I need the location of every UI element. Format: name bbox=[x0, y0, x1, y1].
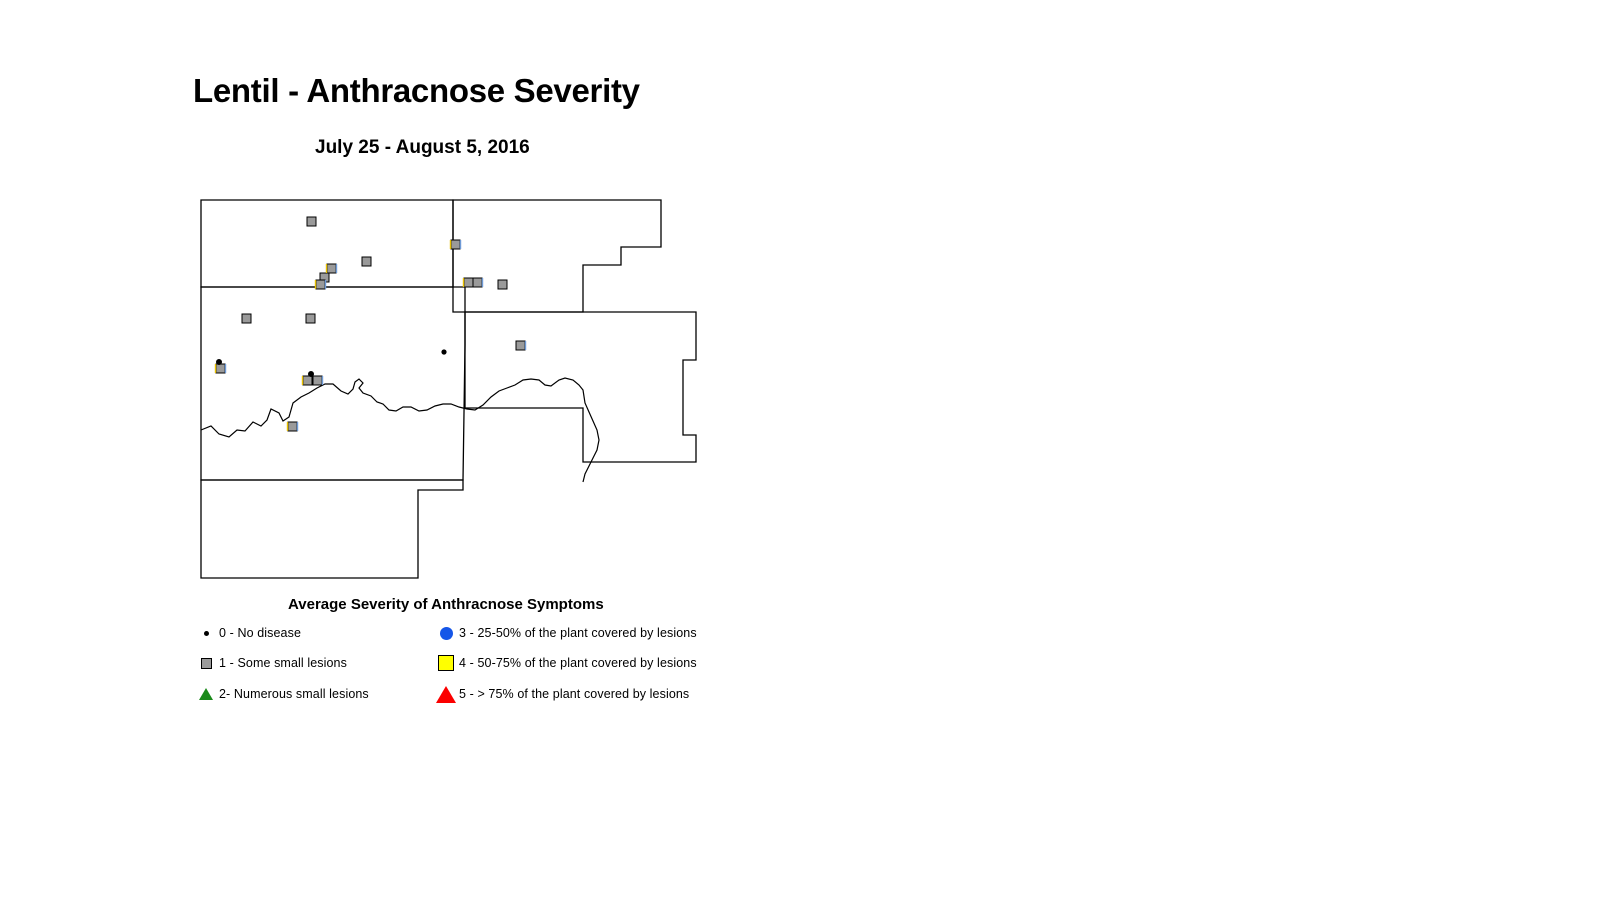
data-point-marker[interactable] bbox=[288, 422, 297, 431]
data-point-marker[interactable] bbox=[313, 376, 322, 385]
data-point-marker[interactable] bbox=[441, 349, 446, 354]
page-subtitle: July 25 - August 5, 2016 bbox=[315, 137, 530, 159]
legend-item-0[interactable]: 0 - No disease bbox=[193, 622, 301, 644]
data-point-marker[interactable] bbox=[216, 364, 225, 373]
map-boundaries bbox=[201, 200, 696, 578]
black-dot-icon bbox=[193, 631, 219, 636]
legend: 0 - No disease 1 - Some small lesions 2-… bbox=[193, 622, 753, 714]
data-point-marker[interactable] bbox=[316, 280, 325, 289]
legend-item-5[interactable]: 5 - > 75% of the plant covered by lesion… bbox=[433, 683, 689, 705]
map-data-points bbox=[216, 217, 526, 431]
data-point-marker[interactable] bbox=[216, 359, 222, 365]
red-triangle-icon bbox=[433, 686, 459, 703]
legend-item-1[interactable]: 1 - Some small lesions bbox=[193, 652, 347, 674]
legend-title: Average Severity of Anthracnose Symptoms bbox=[288, 596, 604, 613]
legend-label: 1 - Some small lesions bbox=[219, 656, 347, 670]
data-point-marker[interactable] bbox=[464, 278, 473, 287]
gray-square-icon bbox=[193, 658, 219, 669]
yellow-square-icon bbox=[433, 655, 459, 671]
map-page: Lentil - Anthracnose Severity July 25 - … bbox=[0, 0, 1612, 900]
blue-circle-icon bbox=[433, 627, 459, 640]
map-svg bbox=[193, 190, 713, 590]
data-point-marker[interactable] bbox=[473, 278, 482, 287]
legend-label: 0 - No disease bbox=[219, 626, 301, 640]
legend-label: 2- Numerous small lesions bbox=[219, 687, 369, 701]
data-point-marker[interactable] bbox=[327, 264, 336, 273]
data-point-marker[interactable] bbox=[451, 240, 460, 249]
data-point-marker[interactable] bbox=[308, 371, 314, 377]
legend-item-3[interactable]: 3 - 25-50% of the plant covered by lesio… bbox=[433, 622, 697, 644]
data-point-marker[interactable] bbox=[516, 341, 525, 350]
legend-item-4[interactable]: 4 - 50-75% of the plant covered by lesio… bbox=[433, 652, 697, 674]
legend-label: 3 - 25-50% of the plant covered by lesio… bbox=[459, 626, 697, 640]
legend-label: 4 - 50-75% of the plant covered by lesio… bbox=[459, 656, 697, 670]
data-point-marker[interactable] bbox=[303, 376, 312, 385]
legend-item-2[interactable]: 2- Numerous small lesions bbox=[193, 683, 369, 705]
legend-label: 5 - > 75% of the plant covered by lesion… bbox=[459, 687, 689, 701]
data-point-marker[interactable] bbox=[362, 257, 371, 266]
data-point-marker[interactable] bbox=[242, 314, 251, 323]
green-triangle-icon bbox=[193, 688, 219, 700]
data-point-marker[interactable] bbox=[306, 314, 315, 323]
severity-map[interactable] bbox=[193, 190, 713, 590]
page-title: Lentil - Anthracnose Severity bbox=[193, 72, 640, 110]
data-point-marker[interactable] bbox=[307, 217, 316, 226]
data-point-marker[interactable] bbox=[498, 280, 507, 289]
